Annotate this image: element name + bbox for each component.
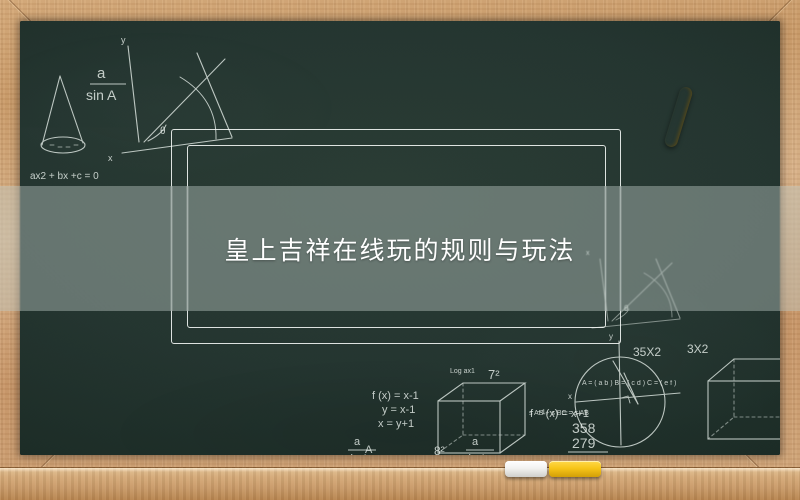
- chalk-sum-line1: 358: [572, 420, 596, 436]
- chalk-quadratic: ax2 + bx +c = 0: [30, 171, 99, 182]
- chalk-frac-a-den: sin A: [86, 87, 117, 103]
- chalk-angle-topleft: θ: [160, 126, 166, 137]
- angle-axis-diagram: [122, 46, 232, 153]
- chalk-mult-35x2: 35X2: [633, 345, 661, 359]
- cone-diagram: [41, 76, 85, 153]
- chalk-inverse-fn: f ⁻¹(x) = x+1: [530, 408, 589, 420]
- chalk-frac3-den: sin A: [463, 453, 488, 455]
- chalk-axis-x-topleft: x: [108, 153, 113, 163]
- chalk-exponent-7: 7²: [488, 367, 500, 382]
- page-title: 皇上吉祥在线玩的规则与玩法: [0, 186, 800, 311]
- ledge-highlight: [0, 468, 800, 472]
- chalk-fx-line2: y = x-1: [382, 404, 415, 416]
- chalk-sum-line2: 279: [572, 435, 596, 451]
- chalk-fx-line3: x = y+1: [378, 418, 414, 430]
- chalk-frac2-num: a: [354, 436, 361, 448]
- chalk-ledge: [0, 467, 800, 500]
- chalk-axis-y-right: y: [609, 332, 613, 341]
- cube-wireframe-left: [438, 383, 525, 453]
- chalk-frac3-num: a: [472, 436, 479, 448]
- screenshot-stage: a sin A y x θ ax2 + bx +c = 0 x θ f (x) …: [0, 0, 800, 500]
- chalk-frac-a-num: a: [97, 65, 106, 82]
- chalk-piece-icon: [549, 461, 601, 477]
- chalk-log-small: Log ax1: [450, 368, 475, 375]
- chalk-axis-x-right: x: [568, 392, 572, 401]
- chalk-matrix-expr: A = ( a b ) B = ( c d ) C = ( e f ): [582, 380, 676, 387]
- title-overlay-band: 皇上吉祥在线玩的规则与玩法: [0, 186, 800, 311]
- chalk-exponent-8: 8²: [434, 444, 445, 455]
- chalk-fx-line1: f (x) = x-1: [372, 390, 419, 402]
- eraser-icon: [505, 461, 547, 477]
- chalk-axis-y-topleft: y: [121, 35, 126, 45]
- chalk-sum-result: 637: [572, 452, 596, 455]
- cube-wireframe-right: [708, 359, 780, 439]
- chalk-mult-3x2: 3X2: [687, 342, 709, 356]
- chalk-letter-a-hidden: A: [365, 444, 373, 455]
